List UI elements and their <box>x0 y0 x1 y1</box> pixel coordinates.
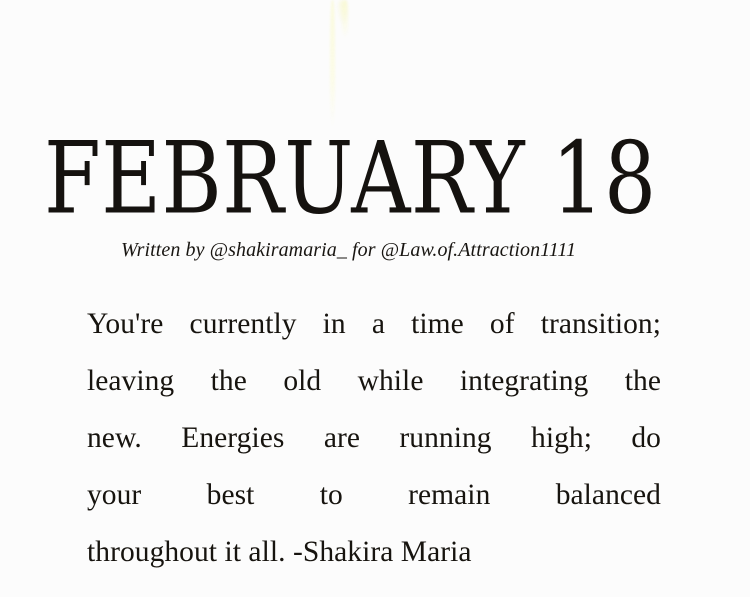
page-title: FEBRUARY 18 <box>44 130 603 228</box>
quote-line: leaving the old while integrating the <box>87 353 661 410</box>
streak-primary <box>330 0 335 128</box>
quote-line: your best to remain balanced <box>87 467 661 524</box>
quote-line-attribution: throughout it all. -Shakira Maria <box>87 524 661 581</box>
byline-credit: Written by @shakiramaria_ for @Law.of.At… <box>121 238 721 262</box>
quote-body: You're currently in a time of transition… <box>87 296 661 581</box>
quote-card: FEBRUARY 18 Written by @shakiramaria_ fo… <box>0 0 750 597</box>
streak-secondary <box>342 0 348 38</box>
quote-line: You're currently in a time of transition… <box>87 296 661 353</box>
quote-line: new. Energies are running high; do <box>87 410 661 467</box>
streak-glow <box>337 0 348 24</box>
